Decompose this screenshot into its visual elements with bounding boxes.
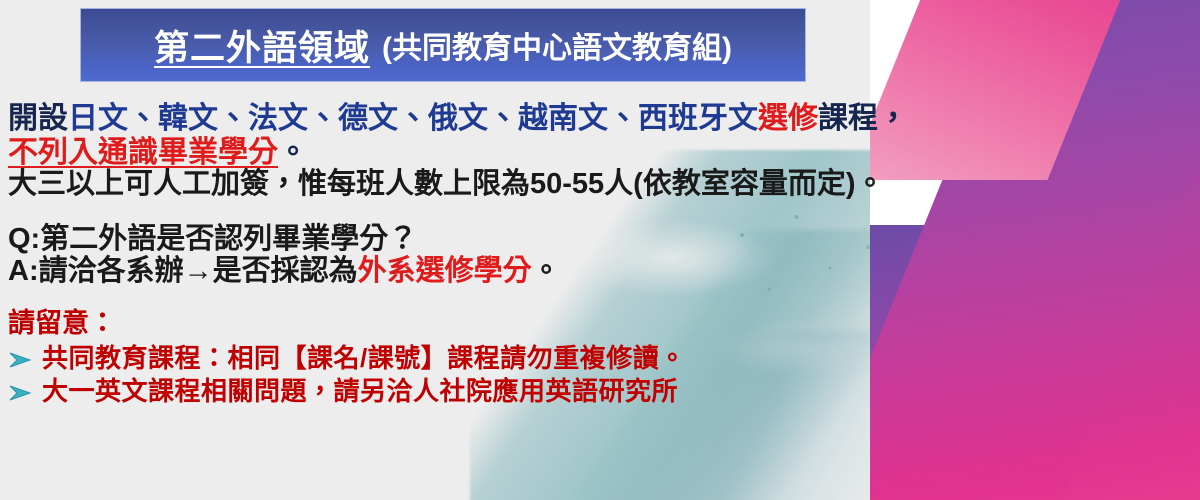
credit-exclusion-line: 不列入通識畢業學分。 xyxy=(8,138,928,168)
credit-exclusion-emphasis: 不列入通識畢業學分 xyxy=(8,136,278,169)
faq-answer-prefix: A:請洽各系辦→是否採認為 xyxy=(8,255,358,287)
body-content: 開設日文、韓文、法文、德文、俄文、越南文、西班牙文選修課程， 不列入通識畢業學分… xyxy=(8,104,928,411)
credit-exclusion-suffix: 。 xyxy=(278,136,308,169)
spacer-secondary xyxy=(8,286,928,310)
list-item: 大一英文課程相關問題，請另洽人社院應用英語研究所 xyxy=(8,378,928,404)
list-item-label: 大一英文課程相關問題，請另洽人社院應用英語研究所 xyxy=(42,378,678,404)
arrow-bullet-icon xyxy=(8,378,42,402)
faq-answer-line: A:請洽各系辦→是否採認為外系選修學分。 xyxy=(8,257,928,286)
elective-label: 選修 xyxy=(758,102,818,135)
list-item-label: 共同教育課程：相同【課名/課號】課程請勿重複修讀。 xyxy=(42,345,686,371)
notice-heading: 請留意： xyxy=(8,310,928,337)
list-item: 共同教育課程：相同【課名/課號】課程請勿重複修讀。 xyxy=(8,345,928,371)
slide-canvas: 第二外語領域 (共同教育中心語文教育組) 開設日文、韓文、法文、德文、俄文、越南… xyxy=(0,0,1200,500)
faq-answer-emphasis: 外系選修學分 xyxy=(358,255,532,287)
arrow-bullet-icon xyxy=(8,345,42,369)
class-capacity-line: 大三以上可人工加簽，惟每班人數上限為50-55人(依教室容量而定)。 xyxy=(8,170,928,199)
page-title-banner: 第二外語領域 (共同教育中心語文教育組) xyxy=(80,8,806,82)
faq-question-line: Q:第二外語是否認列畢業學分？ xyxy=(8,225,928,254)
spacer xyxy=(8,199,928,225)
offered-prefix: 開設 xyxy=(8,102,68,135)
language-list: 日文、韓文、法文、德文、俄文、越南文、西班牙文 xyxy=(68,102,758,135)
faq-answer-suffix: 。 xyxy=(532,255,561,287)
page-title-subtitle: (共同教育中心語文教育組) xyxy=(382,23,732,67)
course-suffix: 課程， xyxy=(818,102,908,135)
page-title: 第二外語領域 xyxy=(154,20,370,71)
offered-languages-line: 開設日文、韓文、法文、德文、俄文、越南文、西班牙文選修課程， xyxy=(8,104,928,134)
